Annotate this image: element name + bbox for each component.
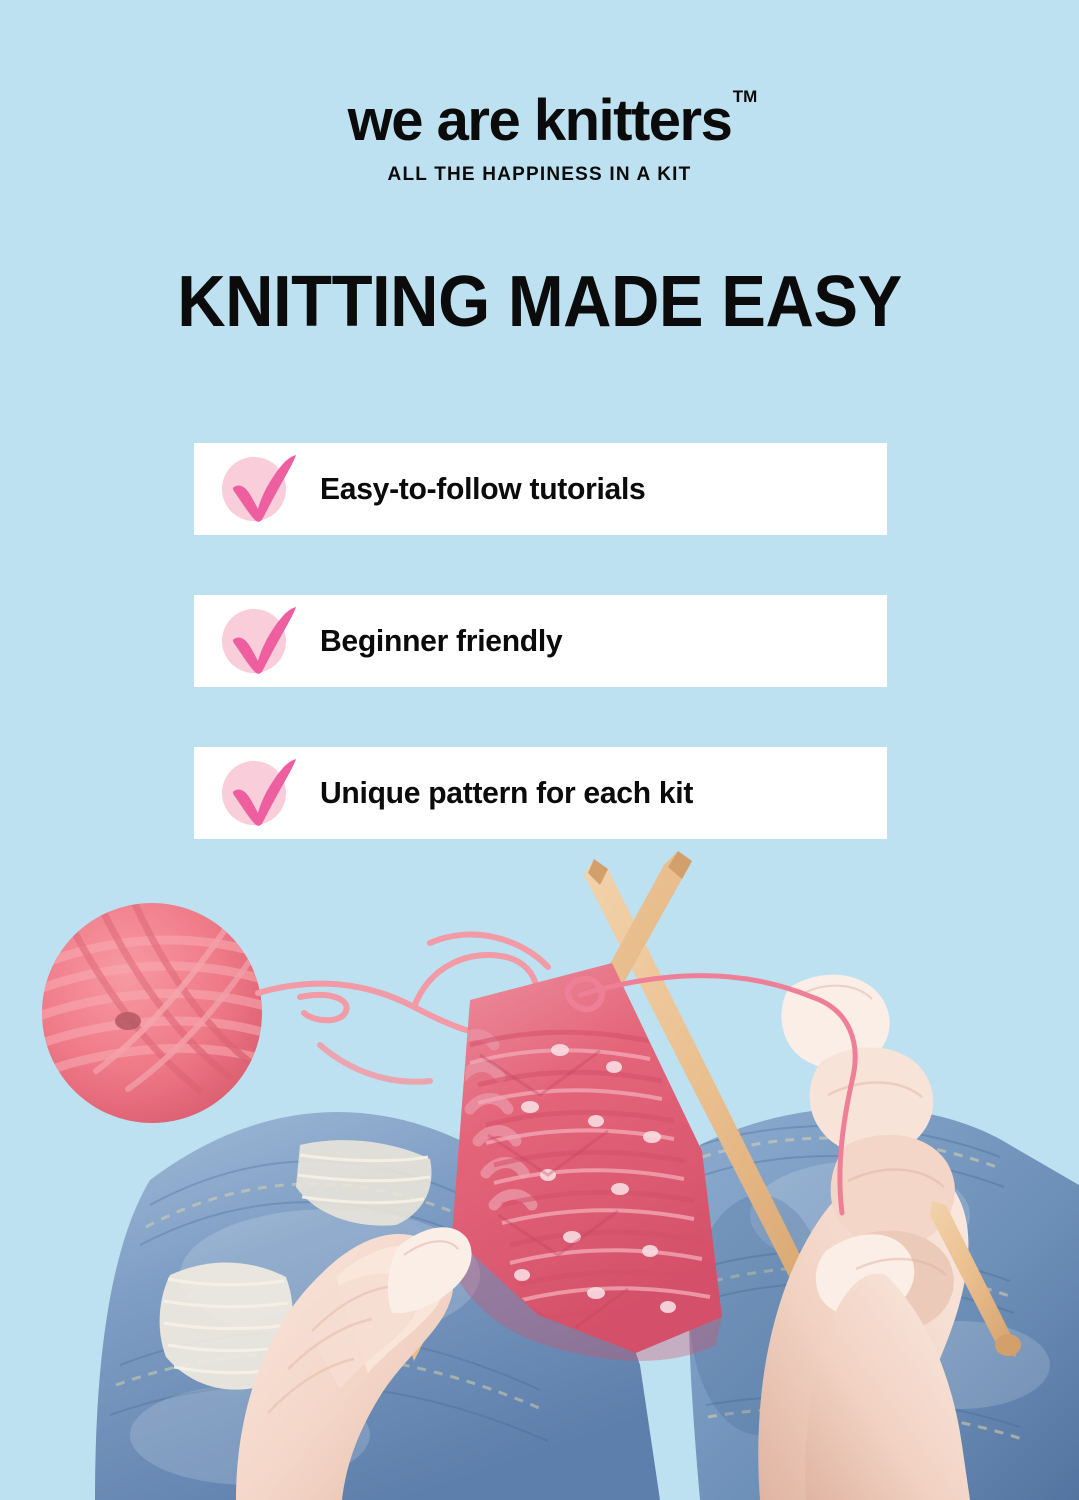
knitting-photo — [0, 845, 1079, 1500]
feature-list: Easy-to-follow tutorials Beginner friend… — [194, 443, 887, 839]
feature-card: Easy-to-follow tutorials — [194, 443, 887, 535]
check-icon — [222, 761, 286, 825]
feature-label: Unique pattern for each kit — [320, 775, 693, 811]
feature-label: Easy-to-follow tutorials — [320, 471, 645, 507]
feature-card: Beginner friendly — [194, 595, 887, 687]
check-icon — [222, 609, 286, 673]
yarn-ball — [34, 893, 268, 1123]
check-mark-glyph — [220, 447, 302, 527]
feature-label: Beginner friendly — [320, 623, 562, 659]
brand-header: we are knitters TM ALL THE HAPPINESS IN … — [0, 92, 1079, 186]
logo-wordmark: we are knitters TM — [348, 92, 732, 150]
check-mark-glyph — [220, 599, 302, 679]
brand-tagline: ALL THE HAPPINESS IN A KIT — [0, 164, 1079, 186]
page-headline: KNITTING MADE EASY — [38, 266, 1041, 338]
check-icon — [222, 457, 286, 521]
trademark-symbol: TM — [733, 88, 758, 105]
feature-card: Unique pattern for each kit — [194, 747, 887, 839]
logo-wordmark-text: we are knitters — [348, 88, 732, 153]
check-mark-glyph — [220, 751, 302, 831]
